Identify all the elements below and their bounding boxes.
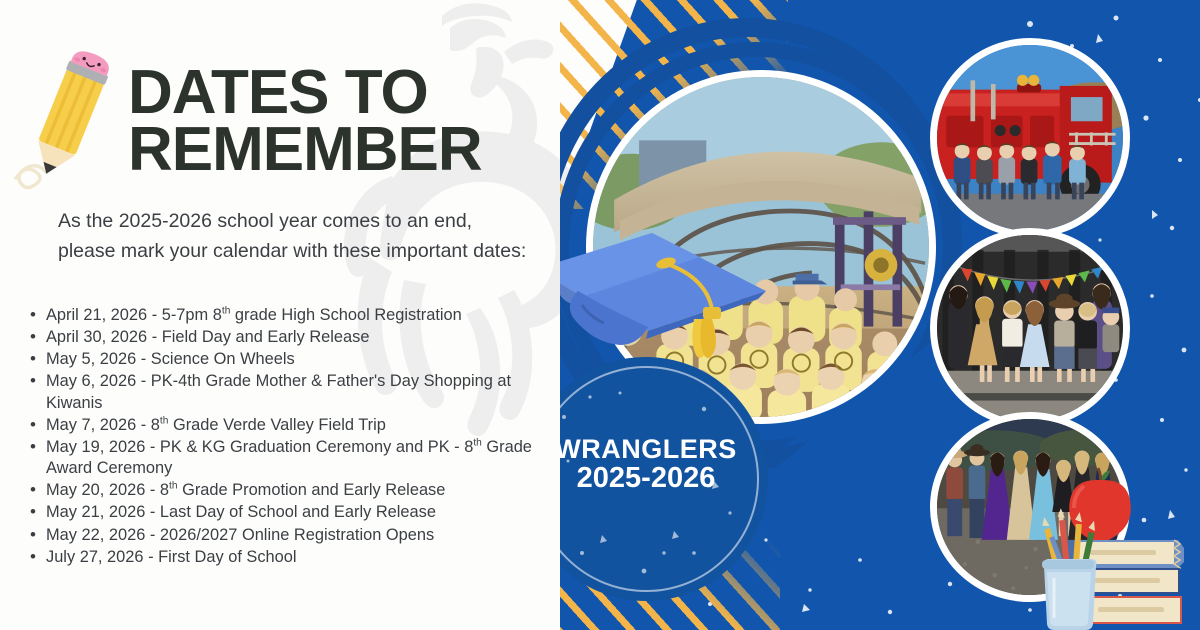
- poster-canvas: DATES TO REMEMBER As the 2025-2026 schoo…: [0, 0, 1200, 630]
- date-item-ordinal-suffix: th: [169, 481, 177, 492]
- date-item-ordinal-num: 8: [151, 416, 160, 434]
- date-item-date: May 7, 2026: [46, 416, 136, 434]
- date-list-item: April 30, 2026 - Field Day and Early Rel…: [22, 327, 542, 348]
- date-item-pre: 5-7pm: [162, 306, 213, 324]
- date-item-date: July 27, 2026: [46, 548, 144, 566]
- date-list-item: May 20, 2026 - 8th Grade Promotion and E…: [22, 480, 542, 501]
- date-item-pre: Science On Wheels: [151, 350, 295, 368]
- date-item-date: May 21, 2026: [46, 503, 145, 521]
- page-title: DATES TO REMEMBER: [128, 64, 548, 178]
- date-item-sep: -: [147, 306, 162, 324]
- date-list-item: May 21, 2026 - Last Day of School and Ea…: [22, 502, 542, 523]
- fire-truck-photo: [930, 38, 1130, 238]
- badge-school-year: 2025-2026: [560, 463, 768, 493]
- date-list-item: July 27, 2026 - First Day of School: [22, 547, 542, 568]
- date-list-item: April 21, 2026 - 5-7pm 8th grade High Sc…: [22, 305, 542, 326]
- date-item-date: May 20, 2026: [46, 481, 145, 499]
- school-supplies-illustration: [1040, 450, 1200, 630]
- date-item-ordinal-num: 8: [464, 438, 473, 456]
- right-visual-panel: WRANGLERS 2025-2026: [560, 0, 1200, 630]
- date-item-sep: -: [136, 416, 151, 434]
- date-item-sep: -: [145, 503, 160, 521]
- date-item-date: May 6, 2026: [46, 372, 136, 390]
- date-item-ordinal-num: 8: [213, 306, 222, 324]
- date-item-post: Grade Verde Valley Field Trip: [168, 416, 385, 434]
- date-item-ordinal-num: 8: [160, 481, 169, 499]
- page-title-line-2: REMEMBER: [128, 121, 548, 178]
- page-title-line-1: DATES TO: [128, 64, 548, 121]
- date-list-item: May 5, 2026 - Science On Wheels: [22, 349, 542, 370]
- date-list-item: May 22, 2026 - 2026/2027 Online Registra…: [22, 525, 542, 546]
- date-item-pre: First Day of School: [158, 548, 296, 566]
- intro-paragraph: As the 2025-2026 school year comes to an…: [58, 207, 528, 266]
- date-list-item: May 6, 2026 - PK-4th Grade Mother & Fath…: [22, 371, 542, 413]
- date-item-sep: -: [144, 548, 159, 566]
- date-item-sep: -: [145, 438, 160, 456]
- date-item-pre: Field Day and Early Release: [162, 328, 370, 346]
- date-item-post: Grade Promotion and Early Release: [178, 481, 446, 499]
- date-item-pre: PK & KG Graduation Ceremony and PK -: [160, 438, 464, 456]
- date-item-sep: -: [136, 372, 151, 390]
- badge-text-block: WRANGLERS 2025-2026: [560, 435, 768, 494]
- date-item-date: April 30, 2026: [46, 328, 147, 346]
- date-item-sep: -: [145, 481, 160, 499]
- date-item-pre: Last Day of School and Early Release: [160, 503, 436, 521]
- date-item-date: May 5, 2026: [46, 350, 136, 368]
- date-list-item: May 19, 2026 - PK & KG Graduation Ceremo…: [22, 437, 542, 479]
- date-item-date: May 19, 2026: [46, 438, 145, 456]
- date-item-post: grade High School Registration: [230, 306, 461, 324]
- mortarboard: [560, 233, 766, 358]
- date-list-item: May 7, 2026 - 8th Grade Verde Valley Fie…: [22, 415, 542, 436]
- wranglers-badge: WRANGLERS 2025-2026: [560, 357, 768, 601]
- kindergarten-graduation-photo: [930, 228, 1130, 428]
- date-item-sep: -: [145, 526, 160, 544]
- important-dates-list: April 21, 2026 - 5-7pm 8th grade High Sc…: [22, 305, 542, 569]
- date-item-pre: 2026/2027 Online Registration Opens: [160, 526, 434, 544]
- badge-mascot-label: WRANGLERS: [560, 435, 768, 463]
- date-item-date: May 22, 2026: [46, 526, 145, 544]
- date-item-ordinal-suffix: th: [473, 437, 481, 448]
- date-item-sep: -: [147, 328, 162, 346]
- kawaii-pencil-icon: [8, 50, 128, 190]
- date-item-date: April 21, 2026: [46, 306, 147, 324]
- date-item-sep: -: [136, 350, 151, 368]
